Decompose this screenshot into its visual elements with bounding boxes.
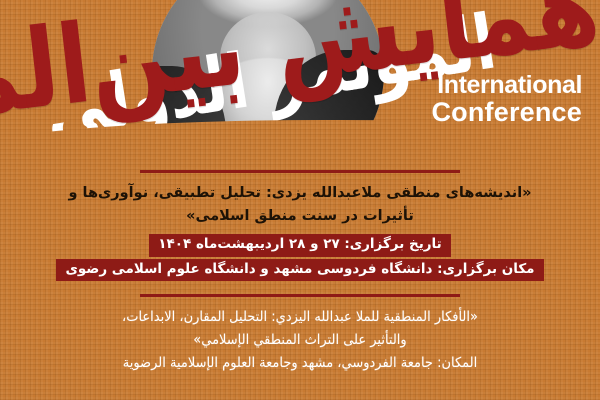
header-curve-divider: [0, 120, 600, 172]
event-date-banner: تاریخ برگزاری: ۲۷ و ۲۸ اردیبهشت‌ماه ۱۴۰۴: [149, 234, 450, 257]
persian-title-line2: تأثیرات در سنت منطق اسلامی»: [186, 208, 414, 224]
english-title-line2: Conference: [431, 98, 582, 126]
arabic-section: «الأفكار المنطقية للملا عبدالله اليزدي: …: [0, 306, 600, 375]
english-title-line1: International: [431, 72, 582, 98]
persian-title: «اندیشه‌های منطقی ملاعبدالله یزدی: تحلیل…: [0, 182, 600, 229]
persian-section: «اندیشه‌های منطقی ملاعبدالله یزدی: تحلیل…: [0, 182, 600, 281]
divider-bottom: [140, 294, 460, 297]
arabic-title-line1: «الأفكار المنطقية للملا عبدالله اليزدي: …: [0, 305, 600, 330]
persian-title-line1: «اندیشه‌های منطقی ملاعبدالله یزدی: تحلیل…: [68, 185, 531, 201]
arabic-title-line2: والتأثير على التراث المنطقي الإسلامي»: [0, 328, 600, 353]
poster-header: المؤتمر الدولي همایش بین‌المللی Internat…: [0, 0, 600, 172]
arabic-venue-line: المكان: جامعة الفردوسي، مشهد وجامعة العل…: [0, 352, 600, 377]
english-conference-title: International Conference: [431, 72, 582, 126]
divider-top: [140, 170, 460, 173]
event-venue-banner: مکان برگزاری: دانشگاه فردوسی مشهد و دانش…: [56, 259, 543, 282]
conference-poster: المؤتمر الدولي همایش بین‌المللی Internat…: [0, 0, 600, 400]
